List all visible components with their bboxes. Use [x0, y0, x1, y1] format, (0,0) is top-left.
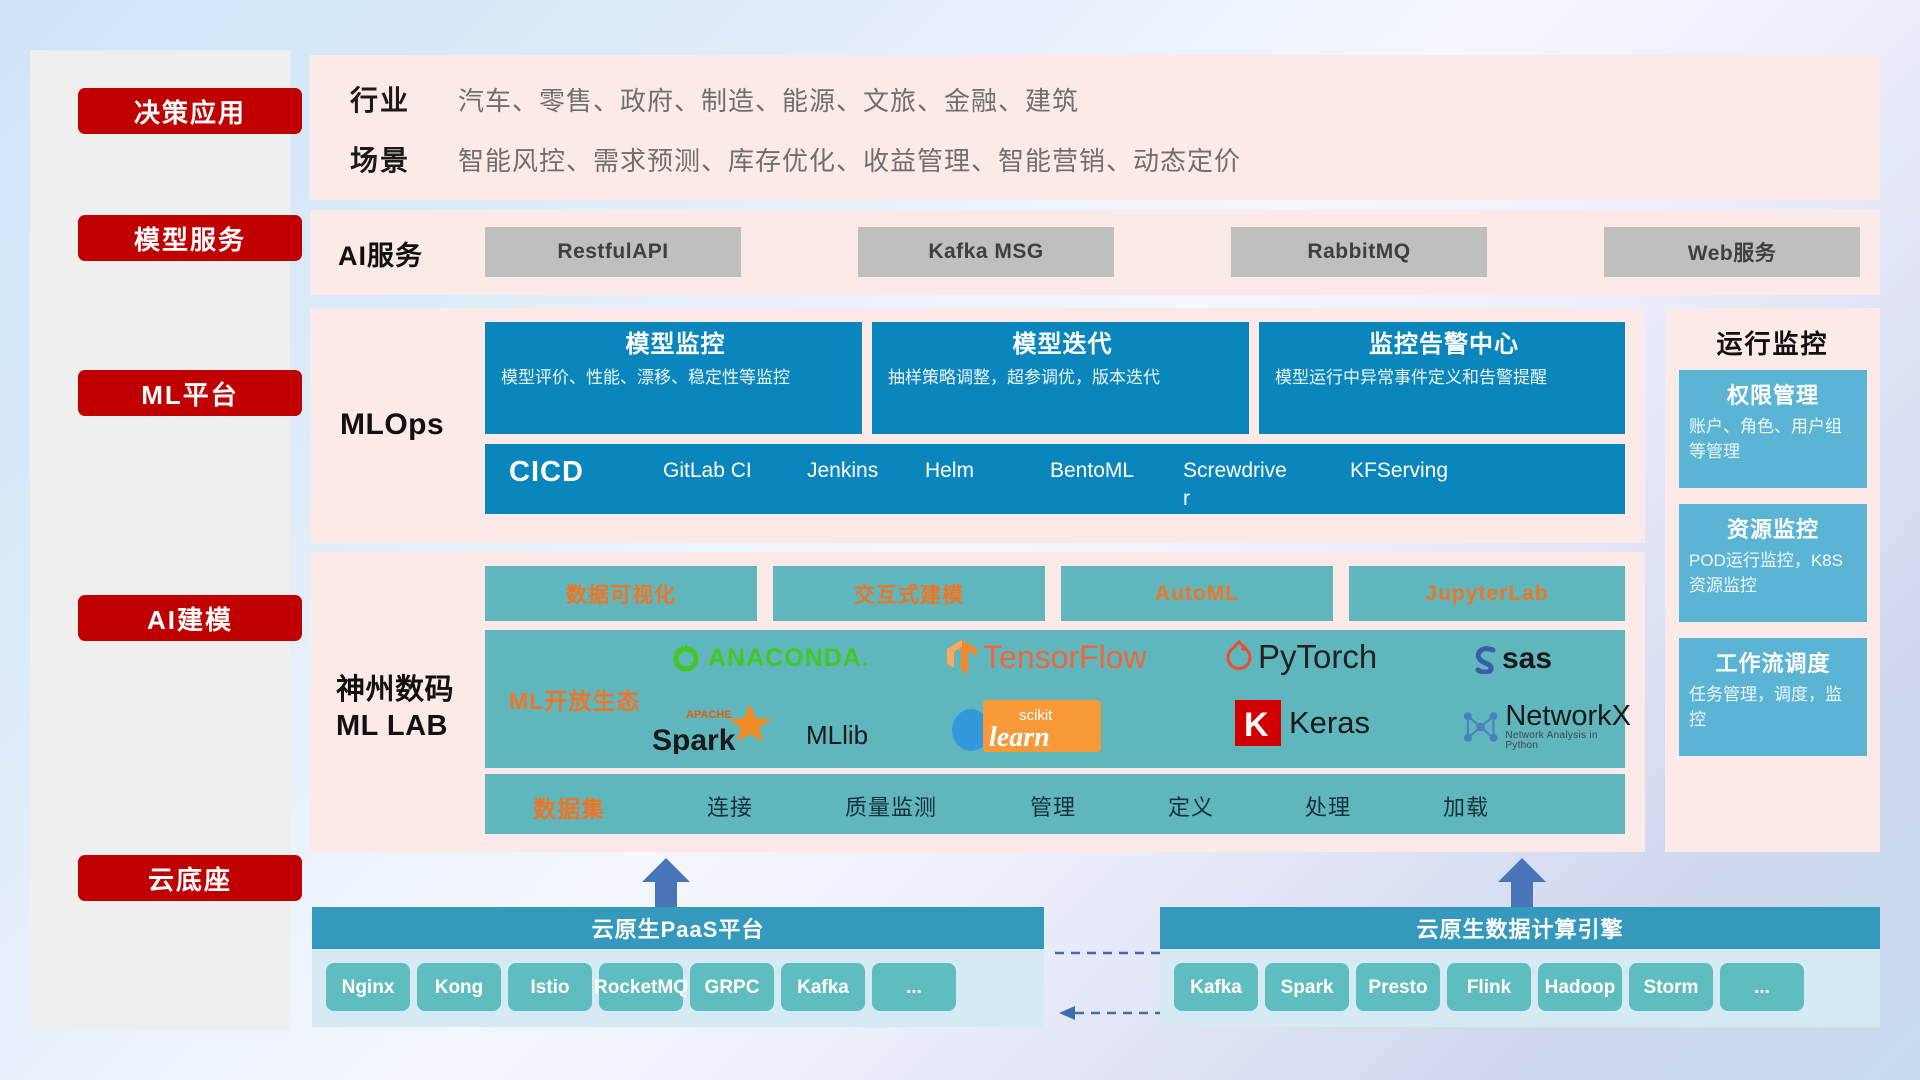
- rail-item-decision-app[interactable]: 决策应用: [78, 88, 302, 134]
- ai-modeling-band: 神州数码 ML LAB 数据可视化 交互式建模 AutoML JupyterLa…: [310, 552, 1645, 852]
- paas-chip-more[interactable]: ...: [872, 963, 956, 1011]
- svg-text:Spark: Spark: [652, 724, 736, 754]
- cicd-item-helm[interactable]: Helm: [925, 457, 1029, 485]
- rail-label: 云底座: [148, 860, 232, 897]
- keras-icon: K: [1235, 700, 1281, 746]
- networkx-wordmark: NetworkX: [1505, 702, 1631, 731]
- rail-item-model-service[interactable]: 模型服务: [78, 215, 302, 261]
- card-title: 监控告警中心: [1275, 330, 1613, 360]
- up-arrow-paas: [638, 858, 694, 910]
- engine-chip-presto[interactable]: Presto: [1356, 963, 1440, 1011]
- sas-wordmark: sas: [1502, 642, 1552, 676]
- monitor-card-permission[interactable]: 权限管理 账户、角色、用户组等管理: [1679, 370, 1867, 488]
- rail-label: 决策应用: [134, 93, 246, 130]
- ai-service-chip-restfulapi[interactable]: RestfulAPI: [485, 227, 741, 277]
- tensorflow-logo: TensorFlow: [945, 638, 1147, 676]
- rail-item-ai-modeling[interactable]: AI建模: [78, 595, 302, 641]
- keras-wordmark: Keras: [1289, 705, 1370, 741]
- card-title: 资源监控: [1689, 512, 1857, 544]
- ai-service-chip-web-service[interactable]: Web服务: [1604, 227, 1860, 277]
- card-desc: POD运行监控，K8S资源监控: [1689, 548, 1857, 598]
- anaconda-logo: ANACONDA.: [670, 642, 870, 674]
- networkx-tagline: Network Analysis in Python: [1505, 731, 1631, 751]
- paas-stack: 云原生PaaS平台 Nginx Kong Istio RocketMQ GRPC…: [312, 907, 1044, 1027]
- ai-service-chip-kafka-msg[interactable]: Kafka MSG: [858, 227, 1114, 277]
- ml-lab-label-line2: ML LAB: [336, 708, 454, 744]
- paas-chip-istio[interactable]: Istio: [508, 963, 592, 1011]
- rail-item-cloud-base[interactable]: 云底座: [78, 855, 302, 901]
- ai-service-label: AI服务: [338, 234, 423, 273]
- tool-chip-data-visualization[interactable]: 数据可视化: [485, 566, 757, 621]
- dataset-item-load[interactable]: 加载: [1443, 790, 1489, 822]
- cicd-item-kfserving[interactable]: KFServing: [1350, 457, 1454, 485]
- engine-chip-hadoop[interactable]: Hadoop: [1538, 963, 1622, 1011]
- data-engine-stack: 云原生数据计算引擎 Kafka Spark Presto Flink Hadoo…: [1160, 907, 1880, 1027]
- svg-text:K: K: [1244, 706, 1269, 744]
- industry-value: 汽车、零售、政府、制造、能源、文旅、金融、建筑: [458, 81, 1079, 118]
- rail-label: 模型服务: [134, 220, 246, 257]
- pytorch-wordmark: PyTorch: [1258, 638, 1377, 676]
- engine-chip-storm[interactable]: Storm: [1629, 963, 1713, 1011]
- scikit-learn-wordmark: scikit learn: [983, 698, 1103, 754]
- data-engine-stack-title: 云原生数据计算引擎: [1160, 907, 1880, 949]
- card-title: 工作流调度: [1689, 646, 1857, 678]
- runtime-monitor-title: 运行监控: [1665, 324, 1880, 361]
- runtime-monitor-panel: 运行监控 权限管理 账户、角色、用户组等管理 资源监控 POD运行监控，K8S资…: [1665, 308, 1880, 852]
- rail-label: AI建模: [147, 600, 233, 637]
- dataset-bar: 数据集 连接 质量监测 管理 定义 处理 加载: [485, 774, 1625, 834]
- svg-text:APACHE: APACHE: [686, 709, 732, 721]
- anaconda-icon: [670, 642, 702, 674]
- engine-chip-flink[interactable]: Flink: [1447, 963, 1531, 1011]
- dataset-title: 数据集: [533, 790, 605, 824]
- cicd-item-bentoml[interactable]: BentoML: [1050, 457, 1154, 485]
- architecture-diagram: 决策应用 模型服务 ML平台 AI建模 云底座 行业 汽车、零售、政府、制造、能…: [0, 0, 1920, 1080]
- cicd-bar: CICD GitLab CI Jenkins Helm BentoML Scre…: [485, 444, 1625, 514]
- cicd-item-jenkins[interactable]: Jenkins: [807, 457, 911, 485]
- dataset-item-quality[interactable]: 质量监测: [845, 790, 937, 822]
- tool-chip-interactive-modeling[interactable]: 交互式建模: [773, 566, 1045, 621]
- monitor-card-workflow[interactable]: 工作流调度 任务管理，调度，监控: [1679, 638, 1867, 756]
- cicd-item-screwdriver[interactable]: Screwdriver: [1183, 457, 1287, 513]
- tool-chip-automl[interactable]: AutoML: [1061, 566, 1333, 621]
- card-title: 模型监控: [501, 330, 850, 360]
- mlops-card-alert-center[interactable]: 监控告警中心 模型运行中异常事件定义和告警提醒: [1259, 322, 1625, 434]
- mllib-wordmark: MLlib: [806, 720, 868, 754]
- mlops-band: MLOps 模型监控 模型评价、性能、漂移、稳定性等监控 模型迭代 抽样策略调整…: [310, 308, 1645, 543]
- tensorflow-wordmark: TensorFlow: [983, 639, 1147, 676]
- rail-item-ml-platform[interactable]: ML平台: [78, 370, 302, 416]
- mlops-label: MLOps: [340, 408, 444, 442]
- scenario-value: 智能风控、需求预测、库存优化、收益管理、智能营销、动态定价: [458, 141, 1241, 178]
- engine-chip-spark[interactable]: Spark: [1265, 963, 1349, 1011]
- ml-open-ecosystem-label: ML开放生态: [509, 682, 640, 716]
- paas-chip-kong[interactable]: Kong: [417, 963, 501, 1011]
- scikit-learn-logo: scikit learn: [945, 698, 1103, 754]
- svg-text:learn: learn: [989, 722, 1050, 753]
- anaconda-wordmark: ANACONDA.: [708, 644, 870, 673]
- card-title: 权限管理: [1689, 378, 1857, 410]
- dataset-item-manage[interactable]: 管理: [1030, 790, 1076, 822]
- paas-chip-rocketmq[interactable]: RocketMQ: [599, 963, 683, 1011]
- networkx-icon: [1460, 706, 1501, 748]
- cicd-item-gitlab-ci[interactable]: GitLab CI: [663, 457, 767, 485]
- card-desc: 模型评价、性能、漂移、稳定性等监控: [501, 365, 850, 390]
- networkx-logo: NetworkX Network Analysis in Python: [1460, 702, 1632, 751]
- rail-label: ML平台: [141, 375, 239, 412]
- engine-chip-kafka[interactable]: Kafka: [1174, 963, 1258, 1011]
- ml-lab-label-line1: 神州数码: [336, 672, 454, 708]
- tensorflow-icon: [945, 638, 979, 676]
- industry-key: 行业: [350, 79, 410, 119]
- sas-logo: sas: [1470, 642, 1552, 676]
- dataset-item-process[interactable]: 处理: [1305, 790, 1351, 822]
- ml-open-ecosystem-box: ML开放生态 ANACONDA. TensorFlow: [485, 630, 1625, 768]
- pytorch-icon: [1225, 640, 1253, 674]
- sas-icon: [1470, 644, 1500, 674]
- paas-chip-nginx[interactable]: Nginx: [326, 963, 410, 1011]
- ai-service-chip-rabbitmq[interactable]: RabbitMQ: [1231, 227, 1487, 277]
- card-desc: 账户、角色、用户组等管理: [1689, 414, 1857, 464]
- spark-icon: APACHE Spark: [650, 702, 800, 754]
- dataset-item-define[interactable]: 定义: [1168, 790, 1214, 822]
- ai-service-band: AI服务 RestfulAPI Kafka MSG RabbitMQ Web服务: [310, 210, 1880, 295]
- up-arrow-data-engine: [1494, 858, 1550, 910]
- cicd-title: CICD: [509, 456, 584, 489]
- industry-scenario-band: 行业 汽车、零售、政府、制造、能源、文旅、金融、建筑 场景 智能风控、需求预测、…: [310, 55, 1880, 200]
- keras-logo: K Keras: [1235, 700, 1370, 746]
- scenario-key: 场景: [350, 139, 410, 179]
- ml-lab-label: 神州数码 ML LAB: [336, 672, 454, 744]
- spark-mllib-logo: APACHE Spark MLlib: [650, 702, 868, 754]
- mlops-card-model-iteration[interactable]: 模型迭代 抽样策略调整，超参调优，版本迭代: [872, 322, 1249, 434]
- mlops-card-model-monitoring[interactable]: 模型监控 模型评价、性能、漂移、稳定性等监控: [485, 322, 862, 434]
- tool-chip-jupyterlab[interactable]: JupyterLab: [1349, 566, 1625, 621]
- left-rail: 决策应用 模型服务 ML平台 AI建模 云底座: [30, 50, 290, 1030]
- paas-stack-title: 云原生PaaS平台: [312, 907, 1044, 949]
- monitor-card-resource[interactable]: 资源监控 POD运行监控，K8S资源监控: [1679, 504, 1867, 622]
- paas-chip-grpc[interactable]: GRPC: [690, 963, 774, 1011]
- card-desc: 任务管理，调度，监控: [1689, 682, 1857, 732]
- dataset-item-connect[interactable]: 连接: [707, 790, 753, 822]
- pytorch-logo: PyTorch: [1225, 638, 1377, 676]
- card-desc: 模型运行中异常事件定义和告警提醒: [1275, 365, 1613, 390]
- card-title: 模型迭代: [888, 330, 1237, 360]
- paas-chip-kafka[interactable]: Kafka: [781, 963, 865, 1011]
- card-desc: 抽样策略调整，超参调优，版本迭代: [888, 365, 1237, 390]
- engine-chip-more[interactable]: ...: [1720, 963, 1804, 1011]
